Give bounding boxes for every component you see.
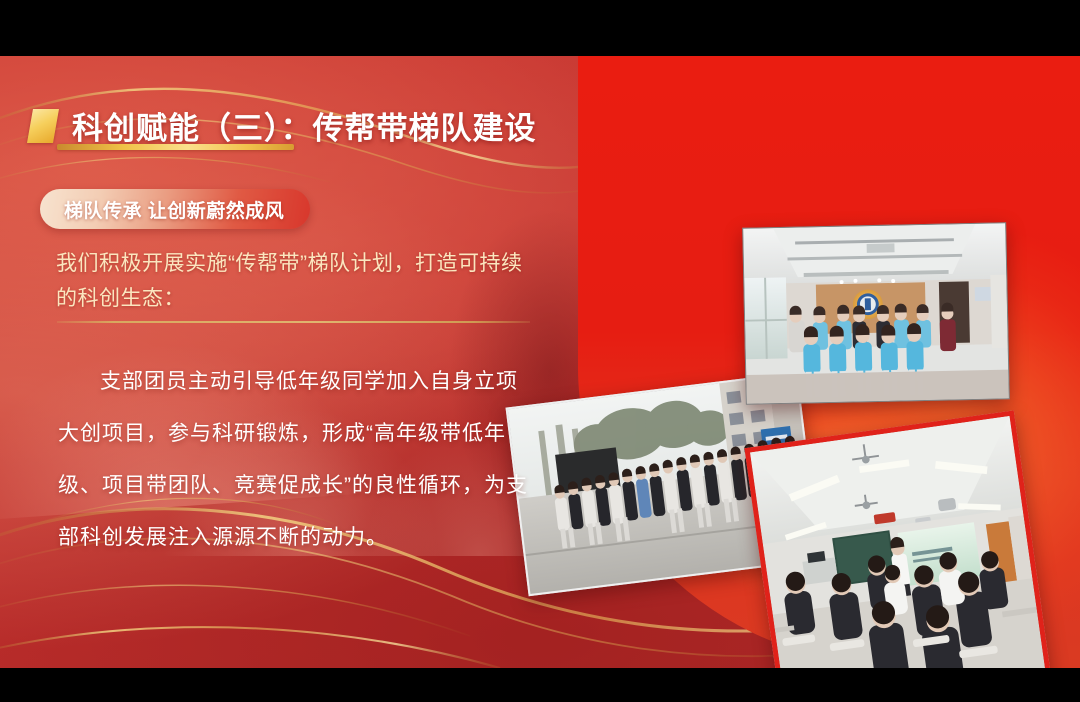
title-underline (57, 144, 294, 150)
badge-label: 梯队传承 让创新蔚然成风 (64, 196, 284, 223)
letterbox-bottom (0, 668, 1080, 702)
page-title: 科创赋能（三）：传帮带梯队建设 (72, 103, 537, 148)
gold-parallelogram-icon (27, 109, 59, 143)
divider (57, 321, 530, 323)
photo-indoor-group (742, 222, 1010, 404)
photo-classroom-lecture (744, 410, 1051, 668)
slide-canvas: 科创赋能（三）：传帮带梯队建设 梯队传承 让创新蔚然成风 我们积极开展实施“传帮… (0, 56, 1080, 668)
intro-paragraph: 我们积极开展实施“传帮带”梯队计划，打造可持续的科创生态： (56, 246, 526, 316)
body-paragraph: 支部团员主动引导低年级同学加入自身立项大创项目，参与科研锻炼，形成“高年级带低年… (58, 356, 528, 564)
slide-title-row: 科创赋能（三）：传帮带梯队建设 (30, 103, 537, 148)
letterbox-top (0, 0, 1080, 56)
presentation-slide-frame: 科创赋能（三）：传帮带梯队建设 梯队传承 让创新蔚然成风 我们积极开展实施“传帮… (0, 0, 1080, 702)
status-badge: 梯队传承 让创新蔚然成风 (40, 189, 310, 229)
